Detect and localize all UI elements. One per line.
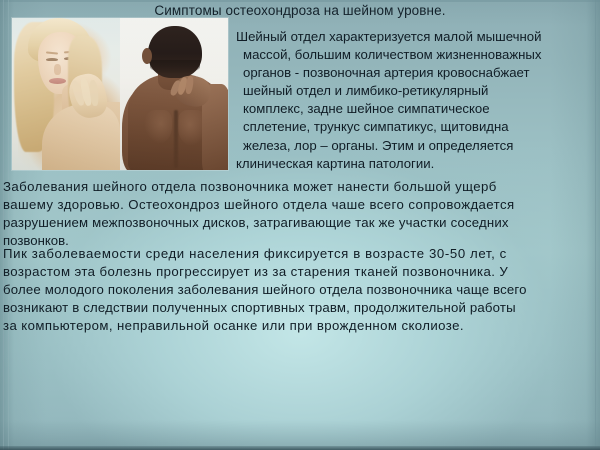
photo-group <box>12 18 228 170</box>
man-hairline <box>150 60 200 74</box>
woman-eye-left <box>46 58 58 61</box>
intro-line: сплетение, трункус симпатикус, щитовидна <box>236 118 596 136</box>
paragraph-line: возникают в следствии полученных спортив… <box>3 299 599 317</box>
paragraph-line: Заболевания шейного отдела позвоночника … <box>3 178 599 196</box>
intro-line: массой, большим количеством жизненноважн… <box>236 46 596 64</box>
intro-line: железа, лор – органы. Этим и определяетс… <box>236 137 596 155</box>
paragraph-damage-block: Заболевания шейного отдела позвоночника … <box>3 178 599 250</box>
paragraph-line: за компьютером, неправильной осанке или … <box>3 317 599 335</box>
paragraph-line: разрушением межпозвоночных дисков, затра… <box>3 214 599 232</box>
woman-nose <box>54 64 61 75</box>
slide-title: Симптомы остеохондроза на шейном уровне. <box>0 3 600 19</box>
man-spine <box>174 110 178 168</box>
paragraph-line: Пик заболеваемости среди населения фикси… <box>3 245 599 263</box>
intro-line: органов - позвоночная артерия кровоснабж… <box>236 64 596 82</box>
paragraph-line: более молодого поколения заболевания шей… <box>3 281 599 299</box>
woman-neck-pain-photo <box>12 18 120 170</box>
presentation-slide: Симптомы остеохондроза на шейном уровне. <box>0 0 600 450</box>
paragraph-line: вашему здоровью. Остеохондроз шейного от… <box>3 196 599 214</box>
intro-line: клиническая картина патологии. <box>236 155 596 173</box>
intro-line: шейный отдел и лимбико-ретикулярный <box>236 82 596 100</box>
paragraph-line: возрастом эта болезнь прогрессирует из з… <box>3 263 599 281</box>
intro-text-block: Шейный отдел характеризуется малой мышеч… <box>236 28 596 173</box>
intro-line: Шейный отдел характеризуется малой мышеч… <box>236 28 596 46</box>
man-neck-pain-photo <box>120 18 228 170</box>
paragraph-incidence-block: Пик заболеваемости среди населения фикси… <box>3 245 599 335</box>
top-edge-rule <box>0 0 600 2</box>
bottom-edge-rule <box>0 446 600 450</box>
man-ear <box>142 48 152 64</box>
woman-lips <box>49 78 66 84</box>
man-shoulder-blade-left <box>144 110 172 144</box>
intro-line: комплекс, задне шейное симпатическое <box>236 100 596 118</box>
